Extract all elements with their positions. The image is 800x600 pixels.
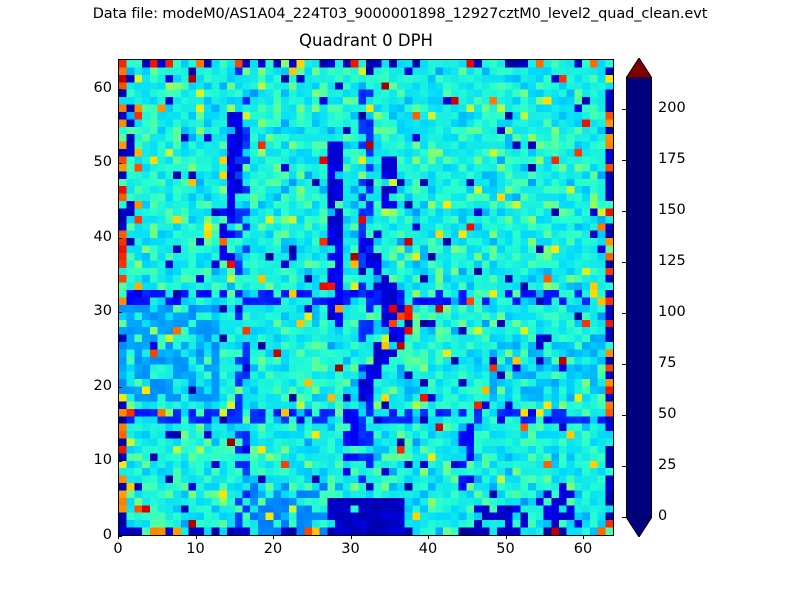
x-tick-mark [506, 535, 507, 539]
y-tick-label: 20 [62, 378, 112, 394]
x-tick-label: 50 [476, 541, 536, 557]
y-tick-label: 0 [62, 527, 112, 543]
y-tick-label: 50 [62, 154, 112, 170]
colorbar-tick-label: 0 [658, 508, 667, 524]
detector-heatmap-image [119, 60, 613, 535]
colorbar: 0255075100125150175200 [626, 59, 652, 536]
colorbar-extend-min-arrow [626, 517, 652, 537]
colorbar-gradient [626, 78, 652, 517]
y-tick-mark [118, 312, 122, 313]
figure-suptitle: Data file: modeM0/AS1A04_224T03_90000018… [0, 6, 800, 22]
x-tick-label: 10 [166, 541, 226, 557]
x-tick-mark [273, 535, 274, 539]
colorbar-tick-label: 200 [658, 100, 686, 116]
x-tick-label: 40 [398, 541, 458, 557]
heatmap-axes [118, 59, 614, 536]
y-tick-mark [118, 536, 122, 537]
x-tick-mark [351, 535, 352, 539]
colorbar-tick-label: 125 [658, 253, 686, 269]
y-tick-mark [118, 163, 122, 164]
colorbar-tick-mark [622, 211, 627, 212]
colorbar-tick-label: 150 [658, 202, 686, 218]
colorbar-tick-mark [622, 313, 627, 314]
colorbar-tick-mark [622, 415, 627, 416]
x-tick-label: 20 [243, 541, 303, 557]
y-tick-label: 30 [62, 303, 112, 319]
x-tick-label: 0 [88, 541, 148, 557]
colorbar-tick-mark [622, 364, 627, 365]
y-tick-mark [118, 387, 122, 388]
y-tick-label: 40 [62, 229, 112, 245]
colorbar-tick-mark [622, 517, 627, 518]
x-tick-mark [428, 535, 429, 539]
colorbar-tick-label: 75 [658, 355, 676, 371]
y-tick-mark [118, 461, 122, 462]
x-tick-label: 60 [553, 541, 613, 557]
y-tick-mark [118, 238, 122, 239]
colorbar-tick-label: 50 [658, 406, 676, 422]
x-tick-mark [583, 535, 584, 539]
colorbar-tick-mark [622, 262, 627, 263]
colorbar-tick-mark [622, 160, 627, 161]
y-tick-label: 60 [62, 80, 112, 96]
colorbar-extend-max-arrow [626, 58, 652, 78]
colorbar-tick-label: 175 [658, 151, 686, 167]
colorbar-tick-label: 100 [658, 304, 686, 320]
colorbar-tick-mark [622, 466, 627, 467]
x-tick-label: 30 [321, 541, 381, 557]
colorbar-tick-mark [622, 109, 627, 110]
colorbar-tick-label: 25 [658, 457, 676, 473]
y-tick-mark [118, 89, 122, 90]
axes-title: Quadrant 0 DPH [118, 31, 614, 50]
x-tick-mark [196, 535, 197, 539]
matplotlib-figure: Data file: modeM0/AS1A04_224T03_90000018… [0, 0, 800, 600]
y-tick-label: 10 [62, 452, 112, 468]
